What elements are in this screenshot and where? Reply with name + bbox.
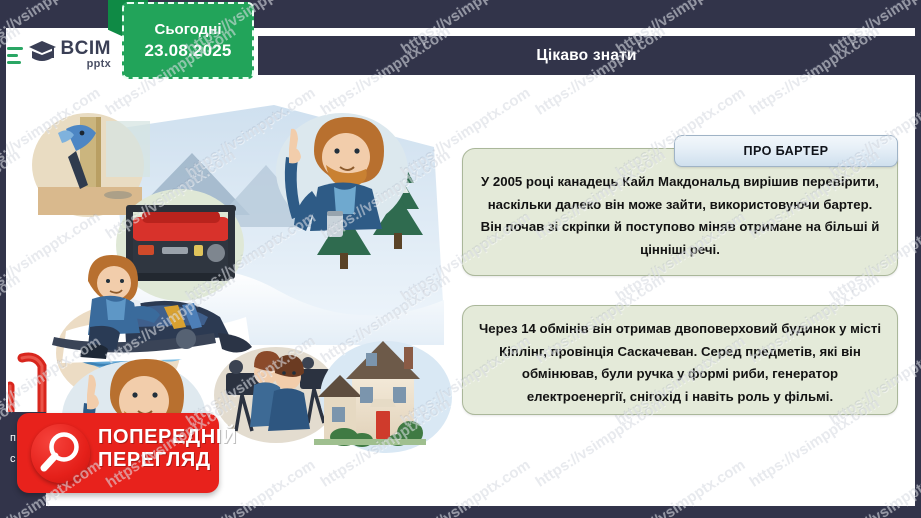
logo-name: BCIM bbox=[60, 39, 111, 58]
slide-title-bar: Цікаво знати bbox=[258, 36, 915, 75]
status-badge-label: ПРО БАРТЕР bbox=[744, 144, 829, 158]
barter-chain-collage bbox=[14, 95, 462, 455]
obscured-line-1: п bbox=[10, 428, 16, 449]
preview-stamp-line-1: ПОПЕРЕДНІЙ bbox=[98, 427, 237, 447]
preview-stamp-line-2: ПЕРЕГЛЯД bbox=[98, 450, 237, 470]
fish-shaped-pen-icon bbox=[32, 113, 150, 217]
brand-logo[interactable]: BCIM pptx bbox=[7, 31, 111, 77]
preview-stamp[interactable]: ПОПЕРЕДНІЙ ПЕРЕГЛЯД bbox=[17, 413, 219, 493]
preview-stamp-label: ПОПЕРЕДНІЙ ПЕРЕГЛЯД bbox=[98, 427, 237, 470]
panel-barter-result: Через 14 обмінів він отримав двоповерхов… bbox=[462, 305, 898, 415]
speed-lines-icon bbox=[7, 39, 24, 69]
date-badge-body: Сьогодні 23.08.2025 bbox=[122, 2, 254, 79]
obscured-body-text: п с bbox=[10, 428, 16, 470]
magnifier-icon bbox=[31, 424, 90, 483]
panel-barter-story: У 2005 році канадець Кайл Макдональд вир… bbox=[462, 148, 898, 276]
slide-canvas: п с Цікаво знати BCIM pptx Сьогодні 23.0… bbox=[0, 0, 921, 518]
snowmobile-rider-icon bbox=[52, 247, 266, 375]
collage-svg bbox=[14, 95, 462, 455]
today-date-badge: Сьогодні 23.08.2025 bbox=[108, 0, 260, 90]
two-story-house-icon bbox=[314, 341, 452, 453]
panel-barter-result-text: Через 14 обмінів він отримав двоповерхов… bbox=[463, 318, 897, 409]
date-badge-value: 23.08.2025 bbox=[144, 41, 231, 61]
obscured-line-2: с bbox=[10, 449, 16, 470]
date-badge-label: Сьогодні bbox=[155, 21, 222, 38]
logo-wordmark: BCIM pptx bbox=[60, 39, 111, 70]
status-badge: ПРО БАРТЕР bbox=[674, 135, 898, 167]
graduation-cap-icon bbox=[27, 38, 57, 70]
panel-barter-story-text: У 2005 році канадець Кайл Макдональд вир… bbox=[463, 171, 897, 262]
page-title: Цікаво знати bbox=[536, 47, 636, 65]
